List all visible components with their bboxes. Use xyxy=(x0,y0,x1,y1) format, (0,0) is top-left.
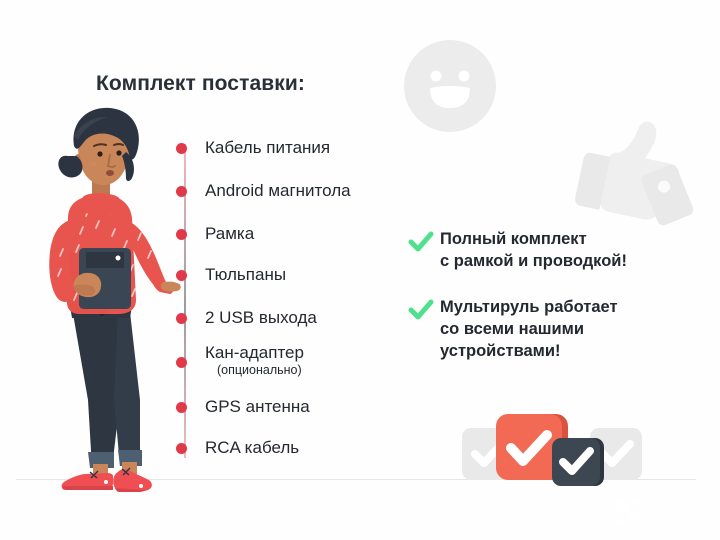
page-title: Комплект поставки: xyxy=(96,72,305,96)
smiley-face-icon xyxy=(396,32,504,140)
woman-pointing-illustration xyxy=(14,100,182,492)
thumbs-up-icon xyxy=(572,112,694,230)
benefit-line: с рамкой и проводкой! xyxy=(440,250,627,272)
bullet-dot-icon xyxy=(176,143,187,154)
green-check-icon xyxy=(408,297,434,323)
svg-text:Avito: Avito xyxy=(644,498,706,526)
list-item: Кан-адаптер (опционально) xyxy=(176,343,406,378)
checkbox-group-icon xyxy=(462,404,642,496)
benefit-line: устройствами! xyxy=(440,340,618,362)
list-item-label: Кан-адаптер xyxy=(205,343,304,363)
bullet-dot-icon xyxy=(176,229,187,240)
bullet-dot-icon xyxy=(176,186,187,197)
avito-watermark: Avito xyxy=(612,494,712,530)
list-item-text: Android магнитола xyxy=(205,181,351,201)
bullet-dot-icon xyxy=(176,270,187,281)
list-item-label: Рамка xyxy=(205,224,254,244)
benefit-line: со всеми нашими xyxy=(440,318,618,340)
benefit-text: Полный комплект с рамкой и проводкой! xyxy=(440,228,627,272)
list-item: Android магнитола xyxy=(176,181,406,201)
list-item-label: Кабель питания xyxy=(205,138,330,158)
list-item-label: Тюльпаны xyxy=(205,265,286,285)
list-item-text: GPS антенна xyxy=(205,397,310,417)
list-item: Кабель питания xyxy=(176,138,406,158)
list-item-text: Кабель питания xyxy=(205,138,330,158)
benefit-item: Полный комплект с рамкой и проводкой! xyxy=(408,228,627,272)
list-item-note: (опционально) xyxy=(217,363,304,378)
bullet-dot-icon xyxy=(176,357,187,368)
list-item-text: Рамка xyxy=(205,224,254,244)
list-item-label: RCA кабель xyxy=(205,438,299,458)
benefit-text: Мультируль работает со всеми нашими устр… xyxy=(440,296,618,362)
list-item-label: GPS антенна xyxy=(205,397,310,417)
green-check-icon xyxy=(408,229,434,255)
benefit-item: Мультируль работает со всеми нашими устр… xyxy=(408,296,618,362)
list-item: Тюльпаны xyxy=(176,265,406,285)
list-item-text: 2 USB выхода xyxy=(205,308,317,328)
list-item: Рамка xyxy=(176,224,406,244)
bullet-dot-icon xyxy=(176,313,187,324)
bullet-dot-icon xyxy=(176,402,187,413)
list-item: RCA кабель xyxy=(176,438,406,458)
bullet-dot-icon xyxy=(176,443,187,454)
list-item-text: Кан-адаптер (опционально) xyxy=(205,343,304,378)
benefit-line: Полный комплект xyxy=(440,228,627,250)
list-item: 2 USB выхода xyxy=(176,308,406,328)
list-item-label: Android магнитола xyxy=(205,181,351,201)
list-item-text: RCA кабель xyxy=(205,438,299,458)
benefit-line: Мультируль работает xyxy=(440,296,618,318)
list-item: GPS антенна xyxy=(176,397,406,417)
list-item-text: Тюльпаны xyxy=(205,265,286,285)
list-item-label: 2 USB выхода xyxy=(205,308,317,328)
poster-canvas: Avito xyxy=(0,0,720,540)
